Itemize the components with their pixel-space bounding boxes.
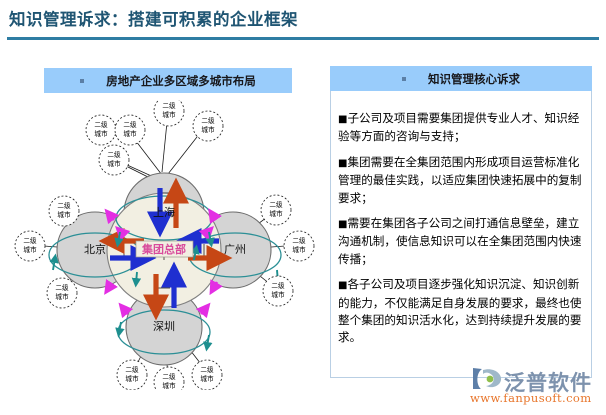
left-panel-header-label: 房地产企业多区域多城市布局 [106, 73, 256, 89]
title-divider [7, 37, 599, 40]
satellite-label-line2: 城市 [292, 245, 306, 254]
satellite-label-line1: 二级 [107, 150, 121, 159]
company-logo: 泛普软件 www.fanpusoft.com [468, 366, 602, 410]
city-label-beijing: 北京 [84, 242, 106, 256]
satellite-node[interactable]: 二级 城市 [86, 115, 116, 145]
requirement-item: ■子公司及项目需要集团提供专业人才、知识经验等方面的咨询与支持； [338, 110, 583, 146]
satellite-label-line2: 城市 [107, 159, 121, 168]
slide-canvas: 知识管理诉求：搭建可积累的企业框架 房地产企业多区域多城市布局 知识管理核心诉求… [0, 0, 606, 415]
bullet-icon [402, 77, 406, 81]
requirement-item: ■各子公司及项目逐步强化知识沉淀、知识创新的能力，不仅能满足自身发展的要求，最终… [338, 276, 583, 347]
satellite-label-line2: 城市 [201, 125, 215, 134]
satellite-node[interactable]: 二级 城市 [192, 360, 222, 390]
left-panel-header: 房地产企业多区域多城市布局 [44, 68, 292, 93]
requirement-text: 需要在集团各子公司之间打通信息壁垒，建立沟通机制，使信息知识可以在全集团范围内快… [338, 216, 581, 266]
requirement-item: ■需要在集团各子公司之间打通信息壁垒，建立沟通机制，使信息知识可以在全集团范围内… [338, 215, 583, 268]
satellite-label-line2: 城市 [57, 210, 71, 219]
satellite-label-line1: 二级 [292, 236, 306, 245]
satellite-label-line1: 二级 [162, 372, 176, 381]
satellite-label-line2: 城市 [55, 292, 69, 301]
satellite-label-line2: 城市 [94, 129, 108, 138]
right-panel-header: 知识管理核心诉求 [330, 66, 592, 91]
satellite-label-line1: 二级 [55, 283, 69, 292]
satellite-label-line2: 城市 [162, 381, 176, 390]
satellite-label-line1: 二级 [200, 365, 214, 374]
satellite-label-line1: 二级 [23, 236, 37, 245]
requirement-text: 集团需要在全集团范围内形成项目运营标准化管理的最佳实践，以适应集团快速拓展中的复… [338, 155, 581, 205]
organization-diagram: 二级 城市 二级 城市 二级 城市 二级 城市 [8, 100, 320, 390]
satellite-label-line2: 城市 [123, 129, 137, 138]
satellite-label-line1: 二级 [271, 281, 285, 290]
requirement-text: 各子公司及项目逐步强化知识沉淀、知识创新的能力，不仅能满足自身发展的要求，最终也… [338, 277, 581, 344]
satellite-label-line1: 二级 [57, 201, 71, 210]
satellite-node[interactable]: 二级 城市 [115, 115, 145, 145]
satellite-node[interactable]: 二级 城市 [263, 276, 293, 306]
right-panel-header-label: 知识管理核心诉求 [428, 71, 520, 87]
satellite-label-line2: 城市 [200, 374, 214, 383]
satellite-node[interactable]: 二级 城市 [261, 195, 291, 225]
page-title: 知识管理诉求：搭建可积累的企业框架 [9, 6, 298, 30]
satellite-label-line1: 二级 [94, 120, 108, 129]
bullet-icon [80, 79, 84, 83]
requirement-text: 子公司及项目需要集团提供专业人才、知识经验等方面的咨询与支持； [338, 111, 579, 143]
satellite-label-line2: 城市 [271, 290, 285, 299]
city-label-guangzhou: 广州 [224, 243, 246, 256]
satellite-label-line2: 城市 [125, 374, 139, 383]
satellite-label-line1: 二级 [125, 365, 139, 374]
satellite-node[interactable]: 二级 城市 [154, 367, 184, 390]
title-bar: 知识管理诉求：搭建可积累的企业框架 [0, 0, 606, 44]
logo-url: www.fanpusoft.com [470, 391, 592, 405]
satellite-label-line2: 城市 [23, 245, 37, 254]
satellite-node[interactable]: 二级 城市 [15, 231, 45, 261]
logo-swirl-icon [470, 366, 504, 391]
center-label-headquarters: 集团总部 [141, 242, 186, 256]
satellite-label-line1: 二级 [123, 120, 137, 129]
requirements-list: ■子公司及项目需要集团提供专业人才、知识经验等方面的咨询与支持； ■集团需要在全… [331, 100, 591, 355]
satellite-node[interactable]: 二级 城市 [284, 231, 314, 261]
city-label-shanghai: 上海 [153, 205, 175, 219]
satellite-label-line1: 二级 [269, 200, 283, 209]
satellite-label-line1: 二级 [201, 116, 215, 125]
satellite-node[interactable]: 二级 城市 [47, 278, 77, 308]
requirement-item: ■集团需要在全集团范围内形成项目运营标准化管理的最佳实践，以适应集团快速拓展中的… [338, 154, 583, 207]
satellite-node[interactable]: 二级 城市 [49, 196, 79, 226]
satellite-node[interactable]: 二级 城市 [154, 100, 184, 126]
satellite-label-line2: 城市 [269, 209, 283, 218]
satellite-node[interactable]: 二级 城市 [99, 145, 129, 175]
satellite-label-line2: 城市 [162, 110, 176, 119]
satellite-node[interactable]: 二级 城市 [193, 111, 223, 141]
city-label-shenzhen: 深圳 [153, 320, 175, 333]
satellite-label-line1: 二级 [162, 101, 176, 110]
satellite-node[interactable]: 二级 城市 [117, 360, 147, 390]
